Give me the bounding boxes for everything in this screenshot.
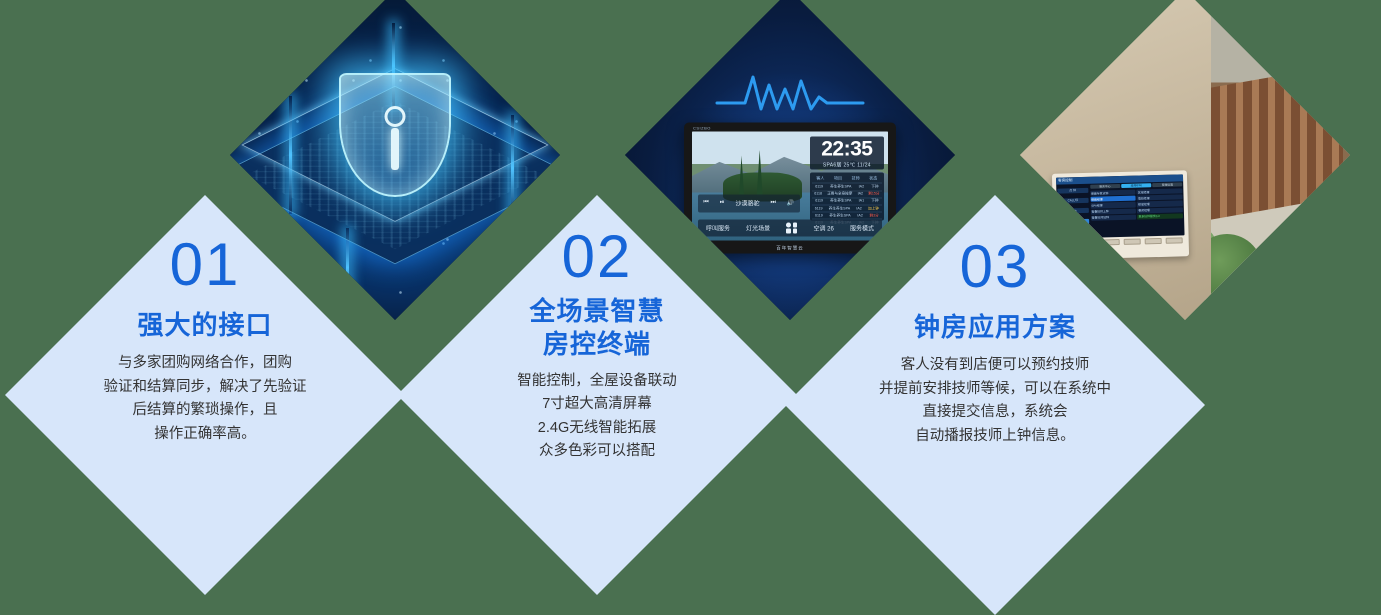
card-number: 03 <box>960 237 1031 297</box>
card-description: 客人没有到店便可以预约技师 并提前安排技师等候，可以在系统中 直接提交信息，系统… <box>879 354 1111 448</box>
feature-card-3-content: 03 钟房应用方案 客人没有到店便可以预约技师 并提前安排技师等候，可以在系统中… <box>785 195 1205 615</box>
tab-service-center[interactable]: 服务中心 <box>1090 184 1120 189</box>
col-header: 项目 <box>834 176 842 182</box>
desc-line: 与多家团购网络合作，团购 <box>104 352 307 375</box>
card-headline: 钟房应用方案 <box>914 311 1076 344</box>
desc-line: 并提前安排技师等候，可以在系统中 <box>879 378 1111 401</box>
desc-line: 智能控制，全屋设备联动 <box>517 370 677 393</box>
tab-management-settings[interactable]: 管理设置 <box>1152 182 1182 187</box>
cell: 6119 <box>815 185 823 190</box>
col-header: 客人 <box>816 176 824 182</box>
col-header: 技师 <box>852 176 860 182</box>
clock-subtitle: SPA6居 25℃ 11/24 <box>823 161 871 168</box>
card-headline: 强大的接口 <box>137 309 272 342</box>
desc-line: 7寸超大高清屏幕 <box>517 393 677 416</box>
feature-card-1-content: 01 强大的接口 与多家团购网络合作，团购 验证和结算同步，解决了先验证 后结算… <box>5 195 405 595</box>
headline-line: 全场景智慧 <box>529 295 664 328</box>
card-description: 智能控制，全屋设备联动 7寸超大高清屏幕 2.4G无线智能拓展 众多色彩可以搭配 <box>517 370 677 464</box>
headline-line: 强大的接口 <box>137 309 272 342</box>
headline-line: 钟房应用方案 <box>914 311 1076 344</box>
cell: 下钟 <box>871 185 878 190</box>
cell: 养生养生SPA <box>830 185 851 190</box>
desc-line: 直接提交信息，系统会 <box>879 401 1111 424</box>
table-row: 6119 养生养生SPA IA2 下钟 <box>812 183 882 190</box>
desc-line: 后结算的繁琐操作，且 <box>104 399 307 422</box>
feature-card-1[interactable]: 01 强大的接口 与多家团购网络合作，团购 验证和结算同步，解决了先验证 后结算… <box>5 195 405 595</box>
pulse-wave-icon <box>715 69 865 115</box>
desc-line: 自动播报技师上钟信息。 <box>879 425 1111 448</box>
feature-card-2-content: 02 全场景智慧 房控终端 智能控制，全屋设备联动 7寸超大高清屏幕 2.4G无… <box>397 195 797 595</box>
clock-time: 22:35 <box>821 138 872 159</box>
clock-widget: 22:35 SPA6居 25℃ 11/24 <box>810 137 884 170</box>
desc-line: 客人没有到店便可以预约技师 <box>879 354 1111 377</box>
card-number: 02 <box>562 227 633 287</box>
service-list-header: 客人 项目 技师 状态 <box>812 175 882 183</box>
feature-card-2[interactable]: 02 全场景智慧 房控终端 智能控制，全屋设备联动 7寸超大高清屏幕 2.4G无… <box>397 195 797 595</box>
tab-technician-call[interactable]: 技师呼叫 <box>1121 183 1151 188</box>
side-button-dianzhong[interactable]: 点 钟 <box>1057 187 1088 193</box>
cell: IA2 <box>859 185 864 190</box>
col-header: 状态 <box>869 176 877 182</box>
headline-line: 房控终端 <box>529 328 664 361</box>
option-item[interactable]: 区域经理 <box>1137 188 1183 194</box>
potted-plant <box>1272 216 1324 274</box>
card-description: 与多家团购网络合作，团购 验证和结算同步，解决了先验证 后结算的繁琐操作，且 操… <box>104 352 307 446</box>
tablet-brand-label: CSIZBO <box>693 126 711 131</box>
desc-line: 操作正确率高。 <box>104 423 307 446</box>
wooden-fence <box>1211 64 1343 219</box>
card-headline: 全场景智慧 房控终端 <box>529 295 664 362</box>
card-number: 01 <box>170 235 241 295</box>
feature-card-3[interactable]: 03 钟房应用方案 客人没有到店便可以预约技师 并提前安排技师等候，可以在系统中… <box>785 195 1205 615</box>
desc-line: 众多色彩可以搭配 <box>517 440 677 463</box>
desc-line: 验证和结算同步，解决了先验证 <box>104 376 307 399</box>
infographic-canvas: CSIZBO 22:35 SPA6居 25℃ 11/24 <box>0 0 1381 603</box>
desc-line: 2.4G无线智能拓展 <box>517 417 677 440</box>
